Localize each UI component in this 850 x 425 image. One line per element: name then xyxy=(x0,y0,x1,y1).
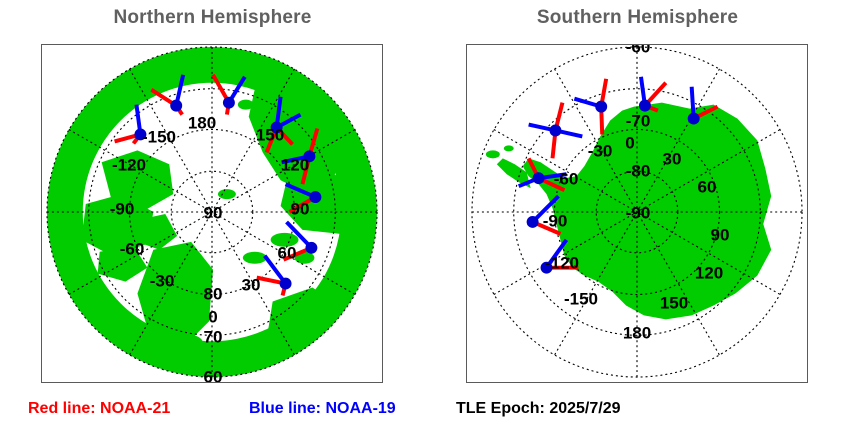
north-lon-label-60: 60 xyxy=(278,245,297,262)
north-lat-label-60: 60 xyxy=(204,369,223,384)
south-lat-label-neg90: -90 xyxy=(626,205,651,222)
north-lon-label-180: 180 xyxy=(188,115,216,132)
legend-tle-epoch: TLE Epoch: 2025/7/29 xyxy=(456,401,621,417)
legend-noaa21: Red line: NOAA-21 xyxy=(28,401,170,417)
south-lon-label-30: 30 xyxy=(663,151,682,168)
south-lat-label-neg80: -80 xyxy=(626,163,651,180)
northern-hemisphere-title: Northern Hemisphere xyxy=(0,7,425,29)
south-lon-label-60: 60 xyxy=(698,179,717,196)
south-lon-label-neg60: -60 xyxy=(554,171,579,188)
south-lon-label-180: 180 xyxy=(623,325,651,342)
south-lat-label-neg60: -60 xyxy=(626,44,651,56)
north-lat-label-80: 80 xyxy=(204,286,223,303)
north-lon-label-90: 90 xyxy=(291,201,310,218)
north-lon-label-30: 30 xyxy=(242,277,261,294)
south-lon-label-neg90: -90 xyxy=(543,213,568,230)
southern-hemisphere-panel: Southern Hemisphere xyxy=(425,0,850,425)
south-lon-label-0: 0 xyxy=(625,135,634,152)
north-lon-label-120: 120 xyxy=(281,157,309,174)
north-lon-label-150: 150 xyxy=(256,127,284,144)
south-lon-label-90: 90 xyxy=(711,227,730,244)
north-lon-label-neg60: -60 xyxy=(120,241,145,258)
northern-hemisphere-panel: Northern Hemisphere xyxy=(0,0,425,425)
northern-hemisphere-plot-frame: 90 80 70 60 180 150 120 90 60 30 0 -30 -… xyxy=(41,44,383,383)
north-lat-label-90: 90 xyxy=(204,205,223,222)
southern-hemisphere-plot-frame: -90 -80 -70 -60 0 30 60 90 120 150 180 -… xyxy=(466,44,808,383)
north-lon-label-neg30: -30 xyxy=(150,273,175,290)
north-lon-label-neg90: -90 xyxy=(110,201,135,218)
south-lon-label-120: 120 xyxy=(695,265,723,282)
south-lon-label-150: 150 xyxy=(660,295,688,312)
north-lat-label-70: 70 xyxy=(204,329,223,346)
south-lon-label-neg150: -150 xyxy=(564,291,598,308)
south-lon-label-neg30: -30 xyxy=(588,143,613,160)
north-lon-label-neg150: -150 xyxy=(142,129,176,146)
satellite-marker xyxy=(529,103,583,159)
legend-noaa19: Blue line: NOAA-19 xyxy=(249,401,396,417)
south-lon-label-neg120: -120 xyxy=(545,255,579,272)
southern-hemisphere-title: Southern Hemisphere xyxy=(425,7,850,29)
north-lon-label-neg120: -120 xyxy=(112,157,146,174)
north-lon-label-0: 0 xyxy=(208,309,217,326)
south-lat-label-neg70: -70 xyxy=(626,113,651,130)
satellite-marker xyxy=(574,79,607,135)
